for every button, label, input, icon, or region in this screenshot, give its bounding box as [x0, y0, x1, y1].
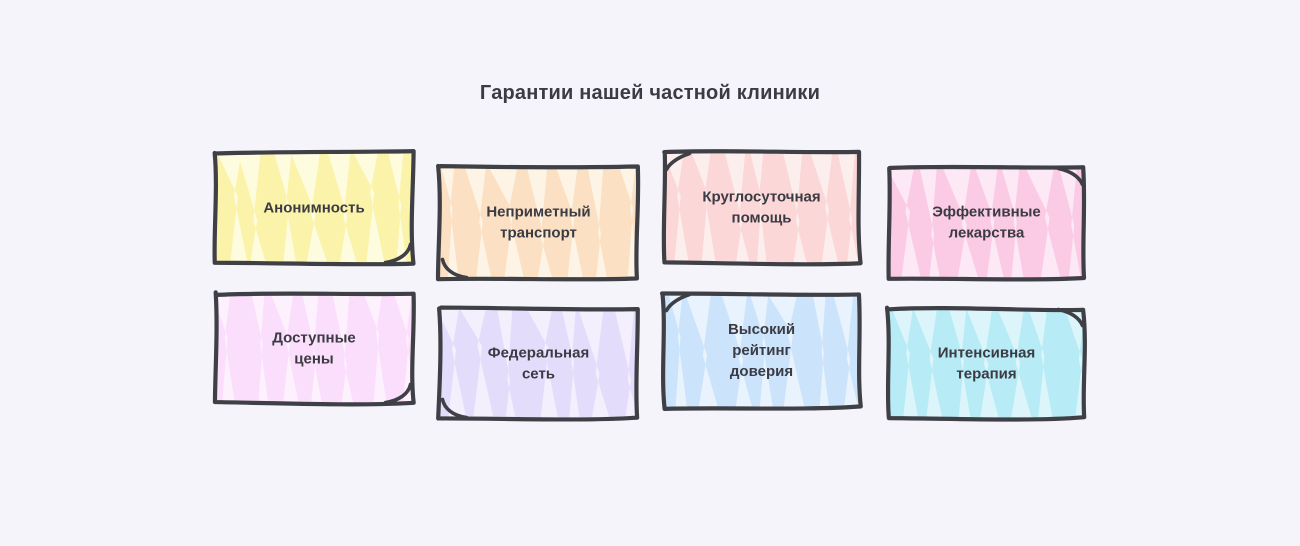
card-shape: [886, 165, 1087, 281]
feature-card[interactable]: Высокийрейтингдоверия: [661, 291, 862, 410]
card-shape: [213, 291, 415, 406]
card-shape: [437, 306, 640, 421]
feature-card[interactable]: Интенсивнаятерапия: [886, 306, 1087, 421]
feature-card[interactable]: Доступныецены: [213, 291, 415, 406]
page-title: Гарантии нашей частной клиники: [0, 82, 1300, 105]
feature-card[interactable]: Федеральнаясеть: [437, 306, 640, 421]
feature-card[interactable]: Эффективныелекарства: [886, 165, 1087, 281]
card-shape: [661, 291, 862, 410]
feature-card[interactable]: Анонимность: [213, 150, 415, 266]
feature-card[interactable]: Неприметныйтранспорт: [437, 165, 640, 281]
infographic-canvas: Гарантии нашей частной клиники Анонимнос…: [0, 0, 1300, 546]
card-shape: [661, 150, 862, 266]
card-shape: [213, 150, 415, 266]
card-shape: [886, 306, 1087, 421]
card-shape: [437, 165, 640, 281]
feature-card[interactable]: Круглосуточнаяпомощь: [661, 150, 862, 266]
